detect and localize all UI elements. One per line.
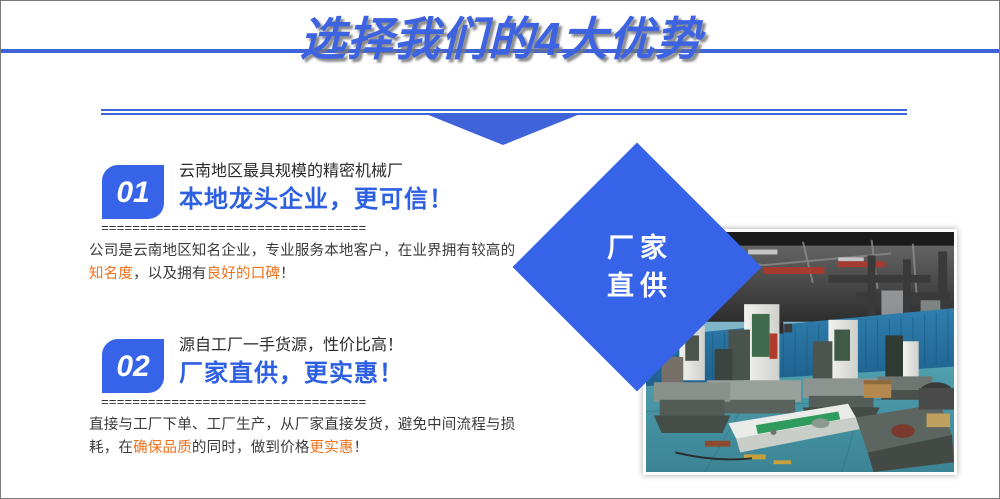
body-text-segment: ，以及拥有 <box>133 266 207 282</box>
feature-subtitle: 源自工厂一手货源，性价比高！ <box>179 335 404 357</box>
highlight-text: 确保品质 <box>133 440 192 456</box>
feature-number-badge: 01 <box>102 165 164 219</box>
feature-number-badge: 02 <box>102 339 164 393</box>
highlight-text: 更实惠 <box>310 440 354 456</box>
body-text-segment: ！ <box>354 440 369 456</box>
highlight-text: 知名度 <box>89 266 133 282</box>
body-text-segment: 的 <box>501 243 516 259</box>
feature-block-02: 02 源自工厂一手货源，性价比高！ 厂家直供，更实惠！ ============… <box>89 335 559 460</box>
divider-line-top <box>101 109 907 111</box>
body-text-segment: 的同时，做到价格 <box>192 440 310 456</box>
feature-header: 01 云南地区最具规模的精密机械厂 本地龙头企业，更可信！ <box>89 161 559 223</box>
body-text-segment: 公司是云南地区知名企业，专业服务本地客户，在业界拥有较高 <box>89 243 501 259</box>
page-title: 选择我们的4大优势 <box>1 7 1000 71</box>
feature-body: 公司是云南地区知名企业，专业服务本地客户，在业界拥有较高的知名度，以及拥有良好的… <box>89 240 529 286</box>
highlight-text: 良好的口碑 <box>207 266 281 282</box>
feature-titles: 云南地区最具规模的精密机械厂 本地龙头企业，更可信！ <box>179 161 454 217</box>
feature-titles: 源自工厂一手货源，性价比高！ 厂家直供，更实惠！ <box>179 335 404 391</box>
promo-banner: 选择我们的4大优势 01 云南地区最具规模的精密机械厂 本地龙头企业，更可信！ … <box>0 0 1000 499</box>
equals-rule: ================================== <box>101 223 521 235</box>
feature-subtitle: 云南地区最具规模的精密机械厂 <box>179 161 454 183</box>
feature-block-01: 01 云南地区最具规模的精密机械厂 本地龙头企业，更可信！ ==========… <box>89 161 559 286</box>
feature-header: 02 源自工厂一手货源，性价比高！ 厂家直供，更实惠！ <box>89 335 559 397</box>
equals-rule: ================================== <box>101 397 521 409</box>
feature-body: 直接与工厂下单、工厂生产，从厂家直接发货，避免中间流程与损耗，在确保品质的同时，… <box>89 414 529 460</box>
feature-title: 本地龙头企业，更可信！ <box>179 183 454 217</box>
body-text-segment: ！ <box>280 266 295 282</box>
body-text-segment: 直接与工厂下单、工厂生产，从厂家直接发货，避免中间流程与 <box>89 417 501 433</box>
feature-title: 厂家直供，更实惠！ <box>179 357 404 391</box>
chevron-down-icon <box>426 114 580 145</box>
